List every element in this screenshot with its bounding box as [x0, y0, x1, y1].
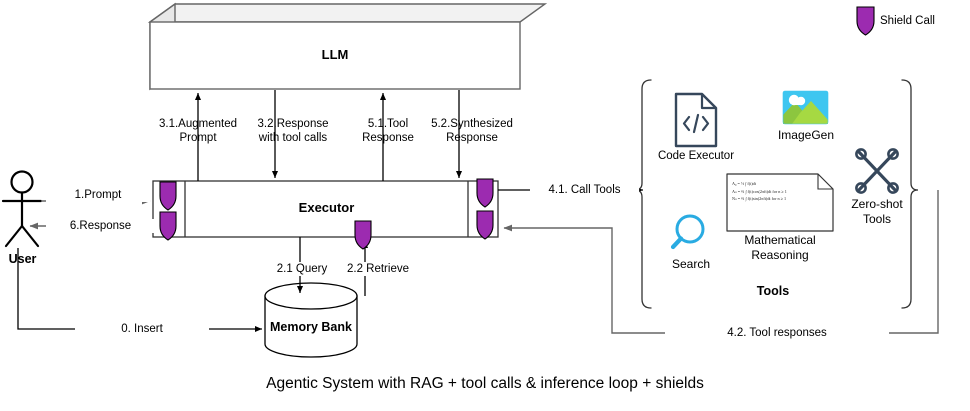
edge-insert: [18, 248, 262, 329]
math-formula-line-1: A₀ = ½ ∫ f(t)dt: [732, 180, 828, 188]
executor-node[interactable]: [153, 181, 498, 237]
tools-right-brace: [902, 80, 918, 308]
edge-tool-responses: [504, 190, 938, 333]
shield-icon-executor-memory[interactable]: [355, 221, 371, 249]
magnifier-icon[interactable]: [673, 216, 703, 247]
code-document-icon[interactable]: [676, 94, 716, 146]
memory-bank-node[interactable]: [265, 283, 357, 357]
diagram-caption: Agentic System with RAG + tool calls & i…: [0, 375, 970, 393]
image-icon[interactable]: [783, 91, 828, 124]
shield-icon-legend: [857, 7, 874, 35]
user-icon[interactable]: [3, 172, 41, 247]
math-formula-line-2: Aₙ = ⅔ ∫ f(t)cos(2πft)dt for n ≥ 1: [732, 188, 828, 196]
math-formula-line-3: Nₙ = ⅔ ∫ f(t)sin(2πft)dt for n ≥ 1: [732, 195, 828, 203]
crossed-wrenches-icon[interactable]: [856, 149, 897, 192]
diagram-canvas: LLM Executor Memory Bank User 1.Prompt 6…: [0, 0, 970, 411]
tools-left-brace: [635, 80, 651, 308]
math-formula-lines: A₀ = ½ ∫ f(t)dt Aₙ = ⅔ ∫ f(t)cos(2πft)dt…: [732, 180, 828, 203]
diagram-vector-layer: [0, 0, 970, 411]
llm-node[interactable]: [150, 4, 545, 89]
